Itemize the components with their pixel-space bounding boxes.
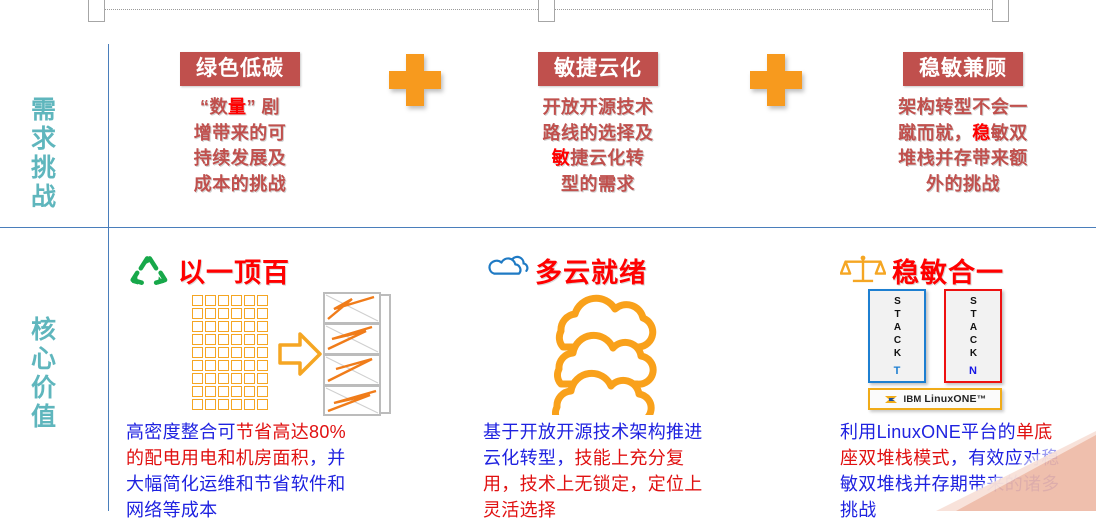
value-card-text: 基于开放开源技术架构推进云化转型，技能上充分复用，技术上无锁定，定位上灵活选择 [483, 419, 719, 523]
grid-square [218, 373, 229, 384]
stack-boxes-group: STACK T STACK N IBM LinuxONE™ [868, 289, 1058, 410]
stack-box-n: STACK N [944, 289, 1002, 383]
guide-handle-left[interactable] [88, 0, 105, 22]
value-card-multicloud: 多云就绪 基于开放开源技术架构推进云化转型，技能上充分复用，技术上无锁定，定位上… [483, 245, 803, 523]
grid-square [231, 360, 242, 371]
grid-square [244, 399, 255, 410]
grid-square [218, 334, 229, 345]
challenge-body: “数量” 剧增带来的可持续发展及成本的挑战 [147, 95, 333, 197]
text-run: ” 剧 [246, 97, 280, 117]
value-card-density: 以一顶百 高密度整合可节省高达80%的配电用电和机房面积，并大幅简化运维和节省软… [126, 245, 446, 523]
challenge-body-line: 外的挑战 [857, 172, 1069, 198]
grid-square [244, 295, 255, 306]
grid-square [205, 360, 216, 371]
grid-square [192, 373, 203, 384]
grid-square [257, 334, 268, 345]
challenge-body-line: 架构转型不会一 [857, 95, 1069, 121]
grid-square [244, 308, 255, 319]
slide-guide-ruler [0, 0, 1096, 22]
server-rack-illustration [322, 291, 394, 417]
grid-square [231, 334, 242, 345]
text-run: 蹴而就， [898, 123, 972, 143]
section-label-char: 战 [14, 183, 74, 212]
challenge-card-green-low-carbon: 绿色低碳 “数量” 剧增带来的可持续发展及成本的挑战 [147, 52, 333, 197]
grid-square [192, 321, 203, 332]
text-run: 敏双 [991, 123, 1028, 143]
value-card-dual-stack: 稳敏合一 STACK T STACK N IBM LinuxONE™ [840, 245, 1096, 523]
grid-square [218, 308, 229, 319]
grid-square [244, 360, 255, 371]
linuxone-logo-icon [884, 393, 899, 406]
challenge-body-line: 蹴而就，稳敏双 [857, 121, 1069, 147]
grid-square [205, 347, 216, 358]
grid-square [192, 308, 203, 319]
text-run: 持续发展及 [194, 148, 287, 168]
challenge-body: 开放开源技术路线的选择及敏捷云化转型的需求 [505, 95, 691, 197]
grid-square [257, 308, 268, 319]
text-run: “数 [200, 97, 228, 117]
challenge-badge: 稳敏兼顾 [903, 52, 1023, 86]
cloud-icon [483, 253, 527, 289]
section-label-char: 求 [14, 125, 74, 154]
value-card-text: 利用LinuxONE平台的单底座双堆栈模式，有效应对稳敏双堆栈并存期带来的诸多挑… [840, 419, 1068, 523]
cloud-stack-icon [531, 289, 691, 415]
recycle-icon [126, 253, 170, 289]
grid-square [257, 360, 268, 371]
challenge-card-stable-agile: 稳敏兼顾 架构转型不会一蹴而就，稳敏双堆栈并存带来额外的挑战 [857, 52, 1069, 197]
value-card-text: 高密度整合可节省高达80%的配电用电和机房面积，并大幅简化运维和节省软件和网络等… [126, 419, 348, 523]
grid-square [218, 399, 229, 410]
stack-box-letter: N [969, 365, 977, 377]
guide-dashed-line-left [104, 9, 546, 10]
server-square-grid [192, 295, 268, 410]
grid-square [231, 347, 242, 358]
challenge-body-line: 持续发展及 [147, 146, 333, 172]
grid-square [257, 321, 268, 332]
grid-square [192, 399, 203, 410]
grid-square [192, 295, 203, 306]
grid-square [231, 386, 242, 397]
challenge-body-line: “数量” 剧 [147, 95, 333, 121]
section-label-char: 心 [14, 345, 74, 374]
dual-stack-linuxone-illustration: STACK T STACK N IBM LinuxONE™ [840, 289, 1096, 419]
text-run: 路线的选择及 [543, 123, 654, 143]
grid-square [257, 295, 268, 306]
text-run: 架构转型不会一 [898, 97, 1028, 117]
grid-square [205, 386, 216, 397]
linuxone-platform-bar: IBM LinuxONE™ [868, 388, 1002, 410]
text-run: 外的挑战 [926, 174, 1000, 194]
guide-handle-right[interactable] [992, 0, 1009, 22]
grid-square [244, 347, 255, 358]
density-consolidation-illustration [126, 289, 446, 419]
section-label-char: 需 [14, 96, 74, 125]
section-label-char: 值 [14, 403, 74, 432]
challenge-body-line: 增带来的可 [147, 121, 333, 147]
grid-square [244, 334, 255, 345]
grid-square [231, 321, 242, 332]
guide-dashed-line-right [555, 9, 1000, 10]
highlighted-run: 敏 [552, 148, 571, 168]
challenge-badge: 敏捷云化 [538, 52, 658, 86]
linuxone-brand: LinuxONE [924, 393, 976, 405]
challenge-body-line: 开放开源技术 [505, 95, 691, 121]
grid-square [205, 308, 216, 319]
challenge-body-line: 敏捷云化转 [505, 146, 691, 172]
section-label-char: 核 [14, 316, 74, 345]
value-card-title: 稳敏合一 [892, 260, 1004, 287]
value-card-header: 稳敏合一 [840, 245, 1096, 289]
arrow-right-icon [278, 331, 322, 377]
highlighted-run: 稳 [972, 123, 991, 143]
grid-square [218, 360, 229, 371]
challenge-body-line: 成本的挑战 [147, 172, 333, 198]
section-label-char: 挑 [14, 154, 74, 183]
stack-box-t: STACK T [868, 289, 926, 383]
grid-square [218, 321, 229, 332]
grid-square [244, 373, 255, 384]
grid-square [205, 321, 216, 332]
section-label-core-value: 核 心 价 值 [14, 316, 74, 432]
text-run: 堆栈并存带来额 [898, 148, 1028, 168]
grid-square [231, 295, 242, 306]
value-card-title: 多云就绪 [535, 260, 647, 287]
challenge-body-line: 路线的选择及 [505, 121, 691, 147]
grid-square [205, 334, 216, 345]
grid-square [231, 373, 242, 384]
section-divider-horizontal [0, 227, 1096, 228]
label-column-divider-bottom [108, 228, 109, 511]
stack-box-word: STACK [968, 296, 978, 361]
grid-square [205, 295, 216, 306]
stacked-clouds-illustration [483, 289, 803, 419]
value-card-header: 以一顶百 [126, 245, 446, 289]
challenge-card-agile-cloud: 敏捷云化 开放开源技术路线的选择及敏捷云化转型的需求 [505, 52, 691, 197]
grid-square [231, 399, 242, 410]
grid-square [205, 373, 216, 384]
text-run: 成本的挑战 [194, 174, 287, 194]
challenge-body: 架构转型不会一蹴而就，稳敏双堆栈并存带来额外的挑战 [857, 95, 1069, 197]
grid-square [192, 386, 203, 397]
linuxone-prefix: IBM [904, 394, 925, 405]
plus-icon [750, 54, 802, 106]
guide-handle-center[interactable] [538, 0, 555, 22]
stack-row: STACK T STACK N [868, 289, 1058, 383]
challenge-body-line: 型的需求 [505, 172, 691, 198]
section-label-demand-challenge: 需 求 挑 战 [14, 96, 74, 212]
grid-square [257, 347, 268, 358]
grid-square [218, 347, 229, 358]
grid-square [244, 386, 255, 397]
grid-square [257, 399, 268, 410]
challenge-badge: 绿色低碳 [180, 52, 300, 86]
text-run: 利用LinuxONE平台的 [840, 422, 1016, 442]
grid-square [205, 399, 216, 410]
value-card-title: 以一顶百 [178, 260, 290, 287]
section-label-char: 价 [14, 374, 74, 403]
text-run: 高密度整合可 [126, 422, 236, 442]
label-column-divider-top [108, 44, 109, 228]
value-card-header: 多云就绪 [483, 245, 803, 289]
linuxone-tm: ™ [977, 394, 987, 405]
balance-scale-icon [840, 253, 884, 289]
grid-square [218, 386, 229, 397]
grid-square [192, 334, 203, 345]
text-run: 捷云化转 [570, 148, 644, 168]
text-run: 型的需求 [561, 174, 635, 194]
highlighted-run: 量 [228, 97, 247, 117]
challenge-body-line: 堆栈并存带来额 [857, 146, 1069, 172]
plus-icon [389, 54, 441, 106]
grid-square [192, 360, 203, 371]
grid-square [257, 373, 268, 384]
grid-square [244, 321, 255, 332]
grid-square [231, 308, 242, 319]
text-run: 增带来的可 [194, 123, 287, 143]
stack-box-letter: T [894, 365, 901, 377]
stack-box-word: STACK [892, 296, 902, 361]
grid-square [257, 386, 268, 397]
linuxone-label: IBM LinuxONE™ [904, 393, 987, 405]
grid-square [218, 295, 229, 306]
grid-square [192, 347, 203, 358]
text-run: 开放开源技术 [543, 97, 654, 117]
